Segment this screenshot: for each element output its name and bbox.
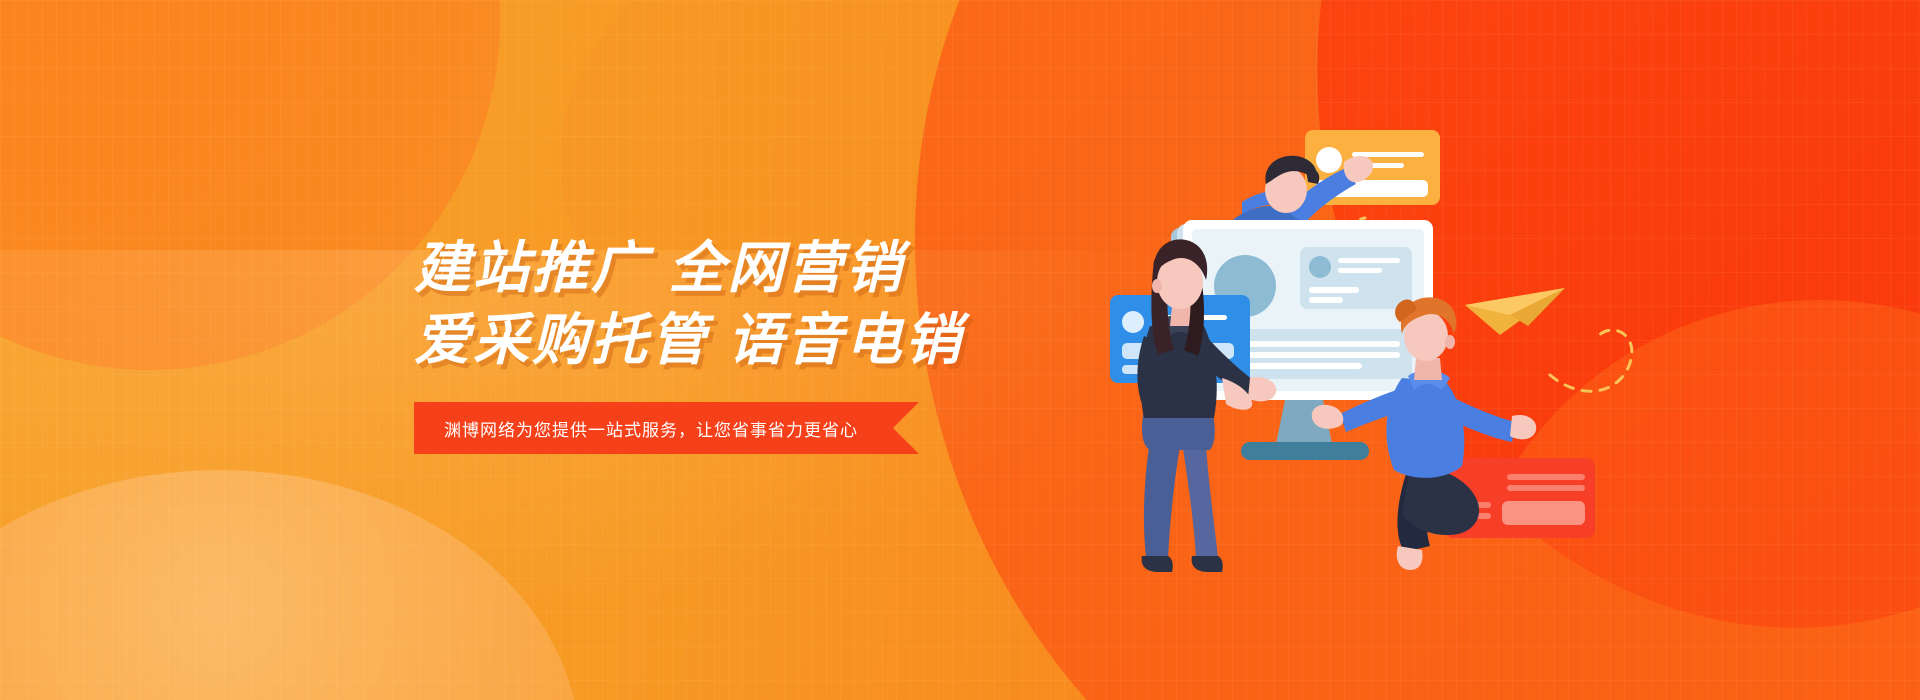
tagline-ribbon: 渊博网络为您提供一站式服务，让您省事省力更省心 xyxy=(414,402,919,454)
promo-banner: 建站推广 全网营销 爱采购托管 语音电销 渊博网络为您提供一站式服务，让您省事省… xyxy=(0,0,1920,700)
headline-line-2: 爱采购托管 语音电销 xyxy=(414,304,1034,376)
man-sitting-right xyxy=(1110,110,1920,630)
hero-illustration xyxy=(1110,110,1920,630)
tagline-text: 渊博网络为您提供一站式服务，让您省事省力更省心 xyxy=(414,416,858,441)
headline-line-1: 建站推广 全网营销 xyxy=(414,232,1034,304)
headline-block: 建站推广 全网营销 爱采购托管 语音电销 渊博网络为您提供一站式服务，让您省事省… xyxy=(414,232,1034,454)
